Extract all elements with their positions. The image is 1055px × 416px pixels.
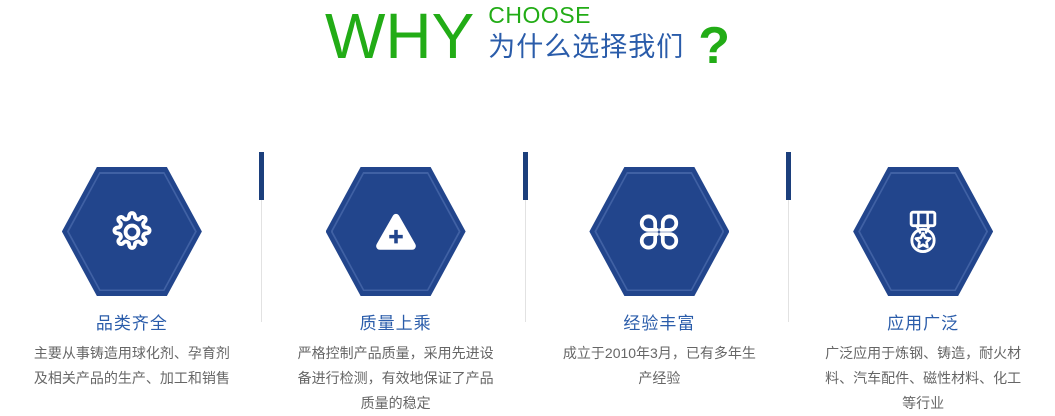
feature-item-2[interactable]: 质量上乘 严格控制产品质量，采用先进设备进行检测，有效地保证了产品质量的稳定 (264, 140, 528, 416)
why-choose-us-section: WHY CHOOSE 为什么选择我们 ? (0, 0, 1055, 416)
heading-question-mark: ? (698, 0, 730, 82)
feature-item-1[interactable]: 品类齐全 主要从事铸造用球化剂、孕育剂及相关产品的生产、加工和销售 (0, 140, 264, 416)
feature-icon-badge-4 (853, 167, 993, 296)
triangle-plus-icon (369, 205, 423, 259)
divider-rail (788, 200, 789, 322)
feature-title-3: 经验丰富 (623, 313, 695, 335)
feature-title-2: 质量上乘 (360, 313, 432, 335)
heading-chinese-text: 为什么选择我们 (488, 30, 684, 64)
section-heading: WHY CHOOSE 为什么选择我们 ? (0, 0, 1055, 90)
medal-icon (896, 205, 950, 259)
heading-middle-block: CHOOSE 为什么选择我们 (488, 0, 684, 64)
feature-icon-badge-2 (326, 167, 466, 296)
feature-description-4: 广泛应用于炼钢、铸造，耐火材料、汽车配件、磁性材料、化工等行业 (823, 341, 1023, 416)
feature-item-4[interactable]: 应用广泛 广泛应用于炼钢、铸造，耐火材料、汽车配件、磁性材料、化工等行业 (791, 140, 1055, 416)
heading-choose-text: CHOOSE (488, 2, 684, 28)
gear-icon (105, 205, 159, 259)
feature-icon-badge-1 (62, 167, 202, 296)
heading-why-text: WHY (325, 0, 474, 72)
feature-description-1: 主要从事铸造用球化剂、孕育剂及相关产品的生产、加工和销售 (32, 341, 232, 391)
feature-title-4: 应用广泛 (887, 313, 959, 335)
divider-rail (525, 200, 526, 322)
feature-description-2: 严格控制产品质量，采用先进设备进行检测，有效地保证了产品质量的稳定 (296, 341, 496, 416)
feature-item-3[interactable]: 经验丰富 成立于2010年3月，已有多年生产经验 (528, 140, 792, 416)
divider-rail (261, 200, 262, 322)
feature-title-1: 品类齐全 (96, 313, 168, 335)
clover-icon (632, 205, 686, 259)
feature-description-3: 成立于2010年3月，已有多年生产经验 (559, 341, 759, 391)
feature-list: 品类齐全 主要从事铸造用球化剂、孕育剂及相关产品的生产、加工和销售 (0, 140, 1055, 416)
heading-inner: WHY CHOOSE 为什么选择我们 ? (325, 0, 730, 82)
feature-icon-badge-3 (589, 167, 729, 296)
